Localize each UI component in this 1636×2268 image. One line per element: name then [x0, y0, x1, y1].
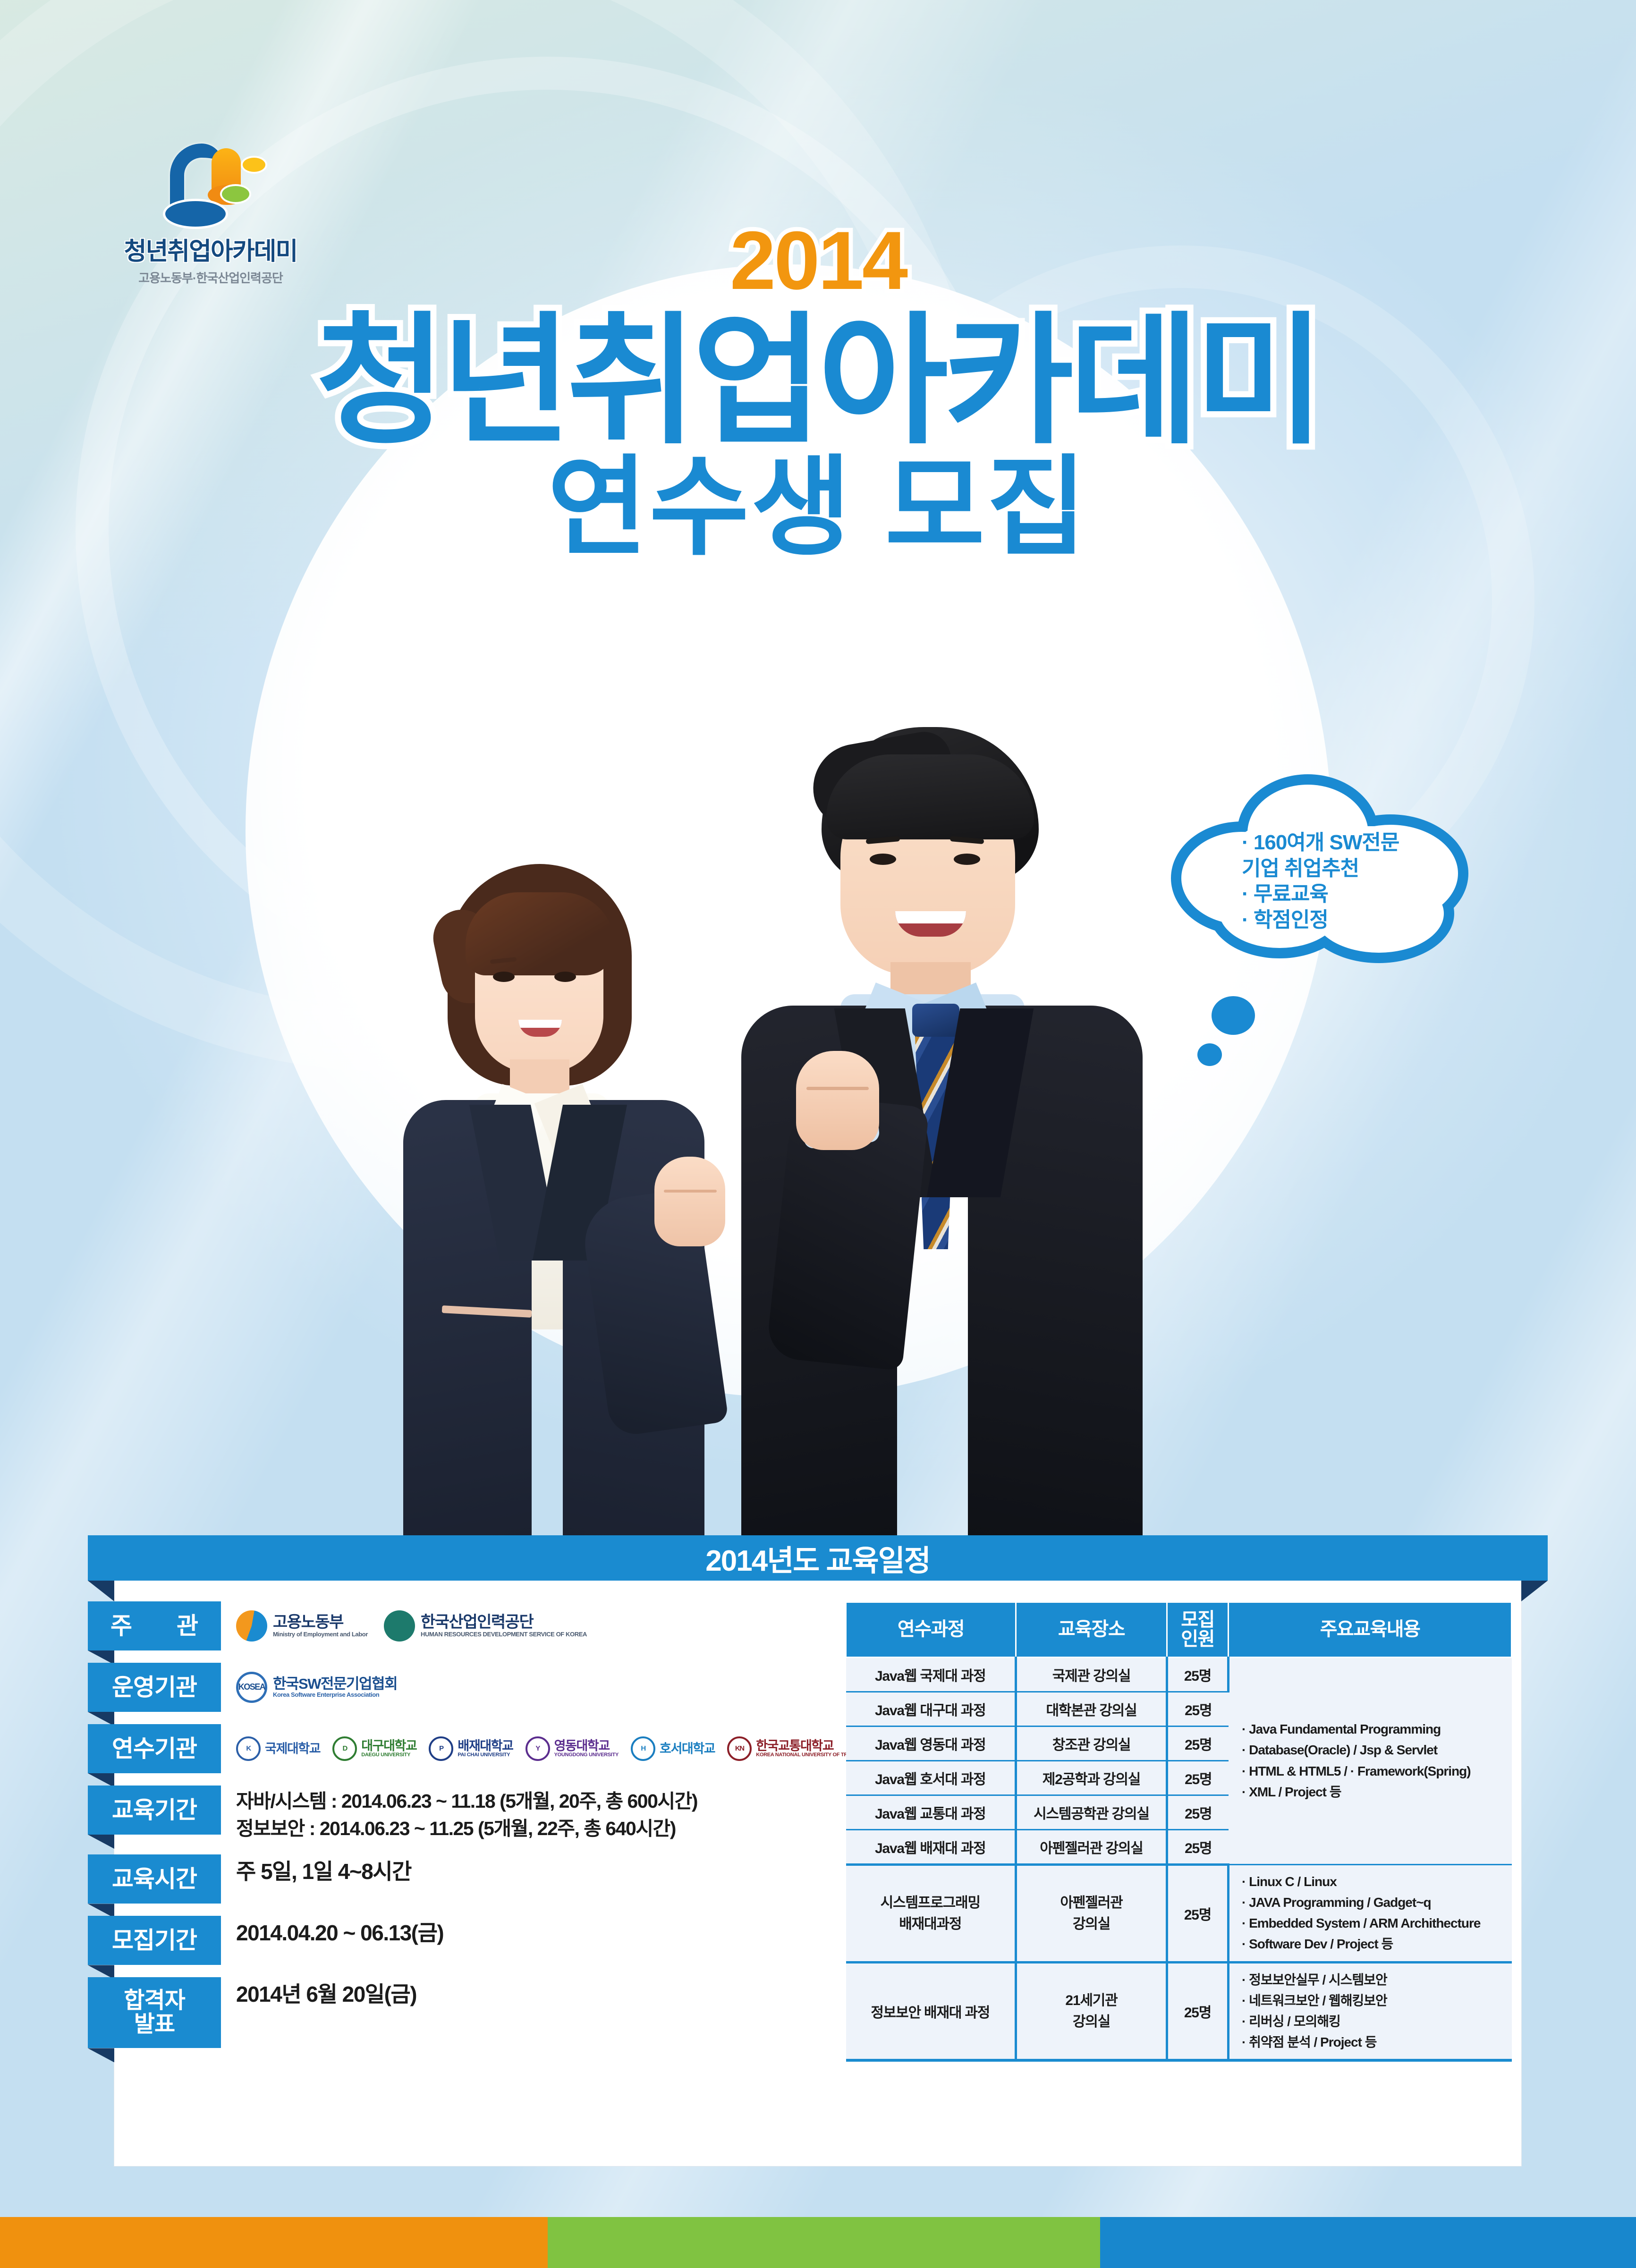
molab-name-ko: 고용노동부: [273, 1614, 368, 1631]
banner-fold-left-icon: [88, 1581, 114, 1601]
kookje-seal-icon: K: [236, 1736, 261, 1761]
cell-place: 제2공학과 강의실: [1016, 1760, 1167, 1795]
course-table: 연수과정 교육장소 모집 인원 주요교육내용 Java웹 국제대 과정 국제관 …: [845, 1601, 1512, 2062]
cell-course: Java웹 대구대 과정: [846, 1692, 1016, 1726]
molab-emblem-icon: [236, 1610, 267, 1642]
info-row-training-hours: 교육시간 주 5일, 1일 4~8시간: [88, 1854, 824, 1904]
cell-course: 시스템프로그래밍 배재대과정: [846, 1864, 1016, 1962]
info-row-announcement: 합격자 발표 2014년 6월 20일(금): [88, 1977, 824, 2048]
bottom-bar-orange: [0, 2217, 548, 2268]
kosea-name-en: Korea Software Enterprise Association: [273, 1692, 397, 1698]
hrdkorea-name-ko: 한국산업인력공단: [421, 1614, 587, 1631]
kosea-emblem-icon: KOSEA: [236, 1672, 267, 1703]
info-label-host: 주 관: [88, 1601, 221, 1650]
cell-course: Java웹 호서대 과정: [846, 1760, 1016, 1795]
logo-hrd-korea: 한국산업인력공단 HUMAN RESOURCES DEVELOPMENT SER…: [384, 1610, 587, 1642]
daegu-name-ko: 대구대학교: [361, 1740, 416, 1752]
col-header-content: 주요교육내용: [1229, 1602, 1512, 1658]
bubble-tail-small: [1197, 1043, 1222, 1066]
headline-block: 2014 청년취업아카데미 연수생 모집: [0, 222, 1636, 562]
cell-java-content: · Java Fundamental Programming · Databas…: [1229, 1657, 1512, 1864]
bubble-line-1: · 160여개 SW전문: [1242, 830, 1431, 856]
info-row-training-period: 교육기간 자바/시스템 : 2014.06.23 ~ 11.18 (5개월, 2…: [88, 1786, 824, 1842]
training-period-line-2: 정보보안 : 2014.06.23 ~ 11.25 (5개월, 22주, 총 6…: [236, 1815, 697, 1842]
sys-place-line-1: 아펜젤러관: [1060, 1895, 1123, 1911]
info-label-host-text: 주 관: [92, 1614, 217, 1639]
logo-youngdong-university: Y 영동대학교 YOUNGDONG UNIVERSITY: [526, 1736, 619, 1761]
man-figure: [685, 727, 1185, 1539]
info-value-training-institutions: K 국제대학교 D 대구대학교 DAEGU UNIVERSITY P 배재대학교…: [221, 1724, 887, 1773]
cell-quota: 25명: [1167, 1726, 1229, 1760]
youngdong-name-ko: 영동대학교: [554, 1740, 619, 1752]
kosea-name-ko: 한국SW전문기업협회: [273, 1676, 397, 1692]
info-label-announcement-line-1: 합격자: [124, 1988, 185, 2013]
youth-academy-logo-icon: [159, 142, 263, 227]
paichai-seal-icon: P: [429, 1736, 453, 1761]
logo-hoseo-university: H 호서대학교: [631, 1736, 715, 1761]
course-table-header-row: 연수과정 교육장소 모집 인원 주요교육내용: [846, 1602, 1512, 1658]
info-label-announcement: 합격자 발표: [88, 1977, 221, 2048]
cell-place: 21세기관 강의실: [1016, 1962, 1167, 2060]
kookje-name-ko: 국제대학교: [265, 1743, 320, 1755]
info-label-training-period: 교육기간: [88, 1786, 221, 1835]
hrdkorea-name-en: HUMAN RESOURCES DEVELOPMENT SERVICE OF K…: [421, 1631, 587, 1638]
sys-course-line-1: 시스템프로그래밍: [881, 1895, 980, 1911]
table-row: 시스템프로그래밍 배재대과정 아펜젤러관 강의실 25명 · Linux C /…: [846, 1864, 1512, 1962]
page-title: 청년취업아카데미: [0, 312, 1636, 450]
col-header-course: 연수과정: [846, 1602, 1016, 1658]
info-label-recruit-period: 모집기간: [88, 1916, 221, 1965]
cell-quota: 25명: [1167, 1795, 1229, 1829]
col-header-quota-line-1: 모집: [1181, 1609, 1214, 1630]
bottom-bar-green: [548, 2217, 1100, 2268]
cell-place: 창조관 강의실: [1016, 1726, 1167, 1760]
logo-daegu-university: D 대구대학교 DAEGU UNIVERSITY: [332, 1736, 416, 1761]
cell-quota: 25명: [1167, 1692, 1229, 1726]
schedule-banner-title: 2014년도 교육일정: [705, 1537, 930, 1579]
headline-subtitle: 연수생 모집: [0, 453, 1636, 562]
hrdkorea-emblem-icon: [384, 1610, 415, 1642]
info-label-announcement-line-2: 발표: [134, 2012, 175, 2037]
logo-kookje-university: K 국제대학교: [236, 1736, 320, 1761]
info-label-training-institutions: 연수기관: [88, 1724, 221, 1773]
col-header-quota-line-2: 인원: [1181, 1629, 1214, 1650]
bubble-tail-large: [1212, 996, 1255, 1035]
bubble-line-4: · 학점인정: [1242, 907, 1431, 933]
table-row: 정보보안 배재대 과정 21세기관 강의실 25명 · 정보보안실무 / 시스템…: [846, 1962, 1512, 2060]
info-value-training-hours: 주 5일, 1일 4~8시간: [221, 1854, 411, 1887]
headline-year: 2014: [0, 222, 1636, 300]
cell-security-content: · 정보보안실무 / 시스템보안 · 네트워크보안 / 웹해킹보안 · 리버싱 …: [1229, 1962, 1512, 2060]
cell-place: 아펜젤러관 강의실: [1016, 1829, 1167, 1864]
info-row-host: 주 관 고용노동부 Ministry of Employment and Lab…: [88, 1601, 824, 1650]
knut-seal-icon: KN: [727, 1736, 752, 1761]
info-value-announcement: 2014년 6월 20일(금): [221, 1977, 416, 2010]
sys-course-line-2: 배재대과정: [899, 1916, 961, 1932]
cell-quota: 25명: [1167, 1760, 1229, 1795]
daegu-name-en: DAEGU UNIVERSITY: [361, 1752, 416, 1758]
bubble-line-2: 기업 취업추천: [1242, 856, 1431, 882]
bubble-line-3: · 무료교육: [1242, 881, 1431, 907]
cell-quota: 25명: [1167, 1657, 1229, 1692]
daegu-seal-icon: D: [332, 1736, 357, 1761]
info-row-training-institutions: 연수기관 K 국제대학교 D 대구대학교 DAEGU UNIVERSITY P: [88, 1724, 824, 1773]
table-row: Java웹 국제대 과정 국제관 강의실 25명 · Java Fundamen…: [846, 1657, 1512, 1692]
info-label-operator: 운영기관: [88, 1663, 221, 1712]
cell-quota: 25명: [1167, 1962, 1229, 2060]
paichai-name-ko: 배재대학교: [458, 1740, 513, 1752]
sys-place-line-2: 강의실: [1073, 1916, 1110, 1932]
poster-root: 청년취업아카데미 고용노동부·한국산업인력공단 2014 청년취업아카데미 연수…: [0, 0, 1636, 2268]
sec-place-line-2: 강의실: [1073, 2014, 1110, 2030]
info-row-recruit-period: 모집기간 2014.04.20 ~ 06.13(금): [88, 1916, 824, 1965]
cell-quota: 25명: [1167, 1829, 1229, 1864]
info-row-operator: 운영기관 KOSEA 한국SW전문기업협회 Korea Software Ent…: [88, 1663, 824, 1712]
sec-place-line-1: 21세기관: [1065, 1993, 1117, 2008]
schedule-banner: 2014년도 교육일정: [88, 1535, 1548, 1581]
cell-place: 국제관 강의실: [1016, 1657, 1167, 1692]
info-value-operator: KOSEA 한국SW전문기업협회 Korea Software Enterpri…: [221, 1663, 397, 1712]
hoseo-seal-icon: H: [631, 1736, 655, 1761]
col-header-place: 교육장소: [1016, 1602, 1167, 1658]
col-header-quota: 모집 인원: [1167, 1602, 1229, 1658]
hoseo-name-ko: 호서대학교: [660, 1743, 715, 1755]
info-value-host: 고용노동부 Ministry of Employment and Labor 한…: [221, 1601, 587, 1650]
logo-ministry-of-employment-and-labor: 고용노동부 Ministry of Employment and Labor: [236, 1610, 368, 1642]
cell-quota: 25명: [1167, 1864, 1229, 1962]
info-list: 주 관 고용노동부 Ministry of Employment and Lab…: [88, 1601, 824, 2060]
cell-course: Java웹 국제대 과정: [846, 1657, 1016, 1692]
info-value-training-period: 자바/시스템 : 2014.06.23 ~ 11.18 (5개월, 20주, 총…: [221, 1786, 697, 1842]
cell-sys-content: · Linux C / Linux · JAVA Programming / G…: [1229, 1864, 1512, 1962]
people-photo: [392, 727, 1223, 1539]
cell-place: 아펜젤러관 강의실: [1016, 1864, 1167, 1962]
bubble-benefit-list: · 160여개 SW전문 기업 취업추천 · 무료교육 · 학점인정: [1242, 830, 1431, 933]
cell-place: 대학본관 강의실: [1016, 1692, 1167, 1726]
paichai-name-en: PAI CHAI UNIVERSITY: [458, 1752, 513, 1758]
cell-course: Java웹 배재대 과정: [846, 1829, 1016, 1864]
logo-paichai-university: P 배재대학교 PAI CHAI UNIVERSITY: [429, 1736, 513, 1761]
bottom-color-bar: [0, 2217, 1636, 2268]
info-value-recruit-period: 2014.04.20 ~ 06.13(금): [221, 1916, 443, 1948]
molab-name-en: Ministry of Employment and Labor: [273, 1631, 368, 1638]
cell-place: 시스템공학관 강의실: [1016, 1795, 1167, 1829]
youngdong-seal-icon: Y: [526, 1736, 550, 1761]
banner-fold-right-icon: [1521, 1581, 1548, 1601]
benefits-thought-bubble: · 160여개 SW전문 기업 취업추천 · 무료교육 · 학점인정: [1171, 774, 1501, 1086]
cell-course: Java웹 교통대 과정: [846, 1795, 1016, 1829]
cell-course: 정보보안 배재대 과정: [846, 1962, 1016, 2060]
info-label-training-hours: 교육시간: [88, 1854, 221, 1904]
youngdong-name-en: YOUNGDONG UNIVERSITY: [554, 1752, 619, 1758]
training-period-line-1: 자바/시스템 : 2014.06.23 ~ 11.18 (5개월, 20주, 총…: [236, 1787, 697, 1815]
logo-kosea: KOSEA 한국SW전문기업협회 Korea Software Enterpri…: [236, 1672, 397, 1703]
cell-course: Java웹 영동대 과정: [846, 1726, 1016, 1760]
bottom-bar-blue: [1100, 2217, 1636, 2268]
